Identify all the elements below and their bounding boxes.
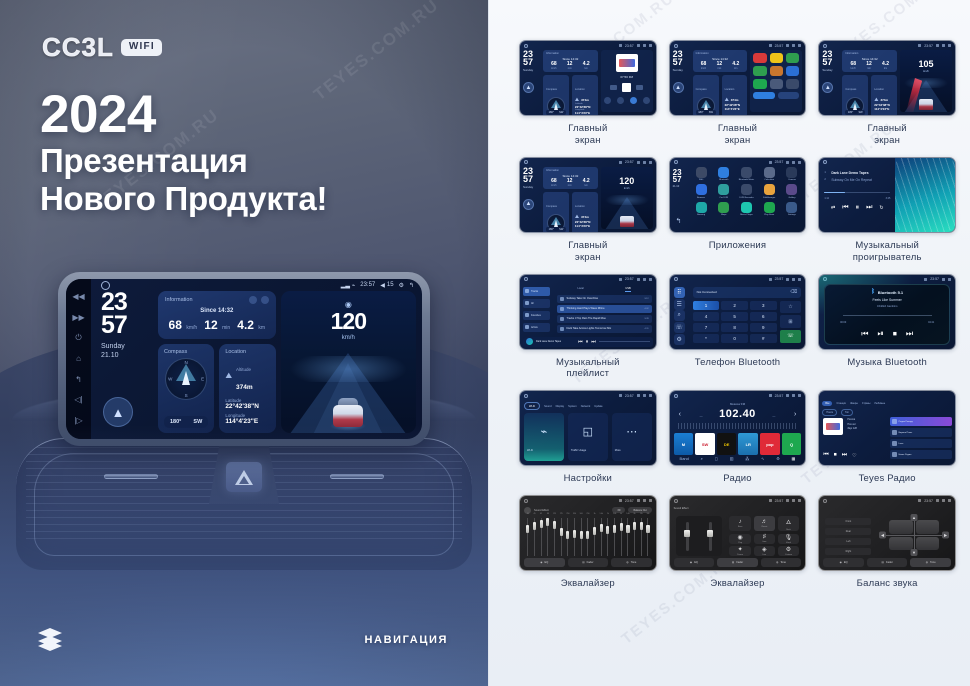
prev-key-icon[interactable]: ◀◀ xyxy=(72,293,84,301)
home-icon xyxy=(524,499,528,503)
eq-band-label: 88 xyxy=(545,513,551,515)
gallery-item[interactable]: 23:57 Front Rear Left Right xyxy=(818,495,956,590)
preset-grid[interactable]: ♪Bass ♬Classic 🜂Rock ◉Pop ♯Jazz 🎙Vocal ✦… xyxy=(729,516,799,556)
screenshot-music-player[interactable]: 23:57 1Dark Lane Demo Tapes 2Subway On M… xyxy=(818,157,956,233)
preset-bass[interactable]: ♪Bass xyxy=(729,516,751,531)
sidebar-item-tracks[interactable]: Tracks xyxy=(523,287,550,296)
drive-view-panel: 120 km/h xyxy=(601,167,653,229)
next-icon[interactable]: ⏭ xyxy=(906,329,913,339)
shuffle-icon[interactable]: ⇄ xyxy=(831,205,835,211)
teyes-tabs[interactable]: Все Станции Жанры Страны Любимые xyxy=(822,401,952,406)
preset-pop[interactable]: ◉Pop xyxy=(729,534,751,544)
volume-down-key-icon[interactable]: ◁| xyxy=(74,396,82,404)
stat-unit: km/h xyxy=(701,67,707,70)
gallery-item[interactable]: 23:57 1Dark Lane Demo Tapes 2Subway On M… xyxy=(818,157,956,264)
dial-key[interactable]: 2 xyxy=(721,301,748,310)
balance-row-rear[interactable]: Rear xyxy=(825,528,871,535)
contacts-icon[interactable]: ☰ xyxy=(674,299,685,310)
repeat-icon[interactable]: ↻ xyxy=(879,205,883,211)
stat-unit: min xyxy=(222,325,230,331)
gallery-caption: Эквалайзер xyxy=(710,578,764,590)
compass-card[interactable]: Compass N E S W xyxy=(158,344,214,433)
app-icon-playstore xyxy=(764,202,775,213)
list-item[interactable]: Европа Плюс xyxy=(890,428,952,437)
stat-item: 4.2km xyxy=(732,62,739,70)
back-key-icon[interactable]: ↰ xyxy=(75,376,82,384)
gallery-caption: Teyes Радио xyxy=(859,473,916,485)
tab-local[interactable]: Local xyxy=(577,287,583,292)
dial-key[interactable]: 0 xyxy=(721,334,748,343)
nav-af[interactable]: ◻ xyxy=(715,456,718,461)
volume-up-key-icon[interactable]: |▷ xyxy=(74,417,82,425)
wifi-icon[interactable]: ▂▃ ⌁ xyxy=(341,282,356,289)
card-label: More xyxy=(615,449,621,452)
gallery-item[interactable]: 23:57 Sound Effect 3D Balance Out 314562… xyxy=(519,495,657,590)
gallery-item[interactable]: Все Станции Жанры Страны Любимые Поиск Т… xyxy=(818,390,956,485)
volume-icon xyxy=(637,499,640,502)
clock-minutes: 57 xyxy=(523,58,540,66)
sidebar-item-all[interactable]: All xyxy=(523,299,550,308)
list-item[interactable]: Love xyxy=(890,439,952,448)
footer-tone[interactable]: ◍ Tone xyxy=(910,558,951,567)
fader-right[interactable] xyxy=(709,522,712,551)
information-card[interactable]: Information Since 14:32 xyxy=(158,291,276,339)
preset-label: Jazz xyxy=(762,541,766,543)
mini-status-bar: 23:57 xyxy=(670,158,806,167)
gallery-item[interactable]: 23:57 23 57 Sunday ▲ xyxy=(519,40,657,147)
eq-band-slider[interactable] xyxy=(638,518,644,556)
navigation-arrow-button[interactable]: ▲ xyxy=(103,397,133,427)
eq-band-slider[interactable] xyxy=(572,518,578,556)
nav-ta[interactable]: ⁂ xyxy=(745,456,749,461)
table-row[interactable]: Dark Take Across Lights Tomorrow Mix4:11 xyxy=(557,325,652,333)
gallery-item[interactable]: 23:57 23 57 Sunday ▲ xyxy=(519,157,657,264)
compass-card: Compass 180°SW xyxy=(543,192,569,233)
back-arrow-icon xyxy=(649,44,652,47)
table-row[interactable]: Tracks 3 Top Rain The Rapid Rise3:28 xyxy=(557,315,652,323)
nav-search[interactable]: ⌕ xyxy=(701,456,703,461)
home-key-icon[interactable]: ⌂ xyxy=(76,355,81,363)
subtab-search[interactable]: Поиск xyxy=(822,409,837,416)
stat-unit: km/h xyxy=(186,325,197,331)
screenshot-equalizer-bands[interactable]: 23:57 Sound Effect 3D Balance Out 314562… xyxy=(519,495,657,571)
track-number: 1 xyxy=(824,171,828,174)
footer-eq[interactable]: ◉ EQ xyxy=(823,558,864,567)
balance-row-left[interactable]: Left xyxy=(825,538,871,545)
prev-icon[interactable]: ⏮ xyxy=(578,339,583,345)
brand-logo: CC3L WIFI xyxy=(42,32,162,63)
preset-custom[interactable]: ⚙Custom xyxy=(778,546,800,556)
tab-update[interactable]: Update xyxy=(594,405,602,408)
gallery-item[interactable]: 23:57 Moscow FM 102.40 ‹ › — — M SW xyxy=(669,390,807,485)
gear-icon[interactable]: ⚙ xyxy=(399,282,404,289)
compass-heading: 180° xyxy=(549,111,554,114)
information-card: Information Since 14:32 68km/h 12min 4.2… xyxy=(842,50,897,72)
tab-wifi[interactable]: Wi-Fi xyxy=(524,402,540,410)
dial-key[interactable]: 7 xyxy=(693,323,720,332)
shortcut-icon xyxy=(643,97,650,104)
preset-jazz[interactable]: ♯Jazz xyxy=(754,534,776,544)
gallery-item[interactable]: 23:57 ⠿ ☰ ⌕ ☏ ⚙ Not Connected xyxy=(669,274,807,381)
preset-live[interactable]: ◈Live xyxy=(754,546,776,556)
eq-band-label: 45 xyxy=(532,513,538,515)
eq-band-slider[interactable] xyxy=(538,518,544,556)
gallery-caption: Музыка Bluetooth xyxy=(847,357,927,369)
eq-band-slider[interactable] xyxy=(618,518,624,556)
expand-icon[interactable] xyxy=(261,296,269,304)
gallery-item[interactable]: 23:57 ᛒBluetooth 5.1 Feels Like Summer C… xyxy=(818,274,956,381)
mini-player-bar[interactable]: Dark Lane Demo Tapes ⏮ ⏸ ⏭ xyxy=(523,337,653,347)
sidebar-item-artists[interactable]: Artists xyxy=(523,323,550,332)
screenshot-home-road[interactable]: 23:57 23 57 Sunday ▲ xyxy=(519,157,657,233)
dial-key[interactable]: 6 xyxy=(750,312,777,321)
favorite-icon[interactable]: ♡ xyxy=(852,453,856,459)
eq-band-slider[interactable] xyxy=(552,518,558,556)
app-icon-settings xyxy=(786,202,797,213)
preset-button[interactable]: Q xyxy=(782,433,802,455)
nav-band[interactable]: Band xyxy=(680,456,689,461)
preset-rock[interactable]: 🜂Rock xyxy=(778,516,800,531)
tab-genres[interactable]: Жанры xyxy=(850,402,858,405)
tune-up-icon[interactable]: › xyxy=(794,411,796,418)
prev-icon[interactable]: ⏮ xyxy=(823,452,828,459)
dial-key[interactable]: * xyxy=(693,334,720,343)
preset-button[interactable]: M xyxy=(674,433,694,455)
progress-bar[interactable] xyxy=(843,315,932,316)
settings-card-wifi[interactable]: ⌁ Wi-Fi xyxy=(524,413,564,461)
gear-icon xyxy=(942,499,945,502)
balance-rows[interactable]: Front Rear Left Right xyxy=(825,516,871,556)
back-arrow-icon xyxy=(798,394,801,397)
location-title: Location xyxy=(575,205,585,208)
screenshot-radio[interactable]: 23:57 Moscow FM 102.40 ‹ › — — M SW xyxy=(669,390,807,466)
volume-icon xyxy=(637,161,640,164)
balance-right-button[interactable]: ▶ xyxy=(942,532,949,539)
nav-st[interactable]: ∿ xyxy=(761,456,764,461)
eq-band-slider[interactable] xyxy=(592,518,598,556)
track-artist: Subway On Me On Repeat xyxy=(831,178,872,182)
eq-band-slider[interactable] xyxy=(578,518,584,556)
app-item: Play Store xyxy=(760,202,779,217)
eq-band-slider[interactable] xyxy=(525,518,531,556)
tab-usb[interactable]: USB xyxy=(625,287,630,292)
clock-minutes: 57 xyxy=(101,314,153,337)
eq-footer-tabs[interactable]: ◉ EQ ▤ Fader ◍ Tone xyxy=(823,558,951,567)
pause-icon[interactable]: ⏸ xyxy=(586,339,589,345)
app-icon-musicplayer xyxy=(741,202,752,213)
elapsed-time: 00:00 xyxy=(840,321,846,324)
radio-frequency: 102.40 xyxy=(670,408,806,420)
status-time: 23:57 xyxy=(625,394,634,398)
call-history-icon[interactable]: ☏ xyxy=(674,322,685,333)
dialpad-keys[interactable]: 1 2 3 4 5 6 7 8 9 * 0 # xyxy=(693,301,777,343)
phone-sidebar[interactable]: ⠿ ☰ ⌕ ☏ ⚙ xyxy=(670,284,689,349)
hazard-button[interactable] xyxy=(226,462,262,492)
stat-item: 4.2km xyxy=(882,62,889,70)
bluetooth-icon: ᛒ xyxy=(871,289,875,295)
footer-fader[interactable]: ▤ Fader xyxy=(568,558,609,567)
information-title: Information xyxy=(165,297,193,303)
tab-all[interactable]: Все xyxy=(822,401,832,406)
balance-down-button[interactable]: ▼ xyxy=(911,549,918,556)
app-icon-gallery xyxy=(786,184,797,195)
eq-band-slider[interactable] xyxy=(625,518,631,556)
clock-widget: 23 57 Sunday ▲ xyxy=(523,167,540,229)
track-duration: 3:28 xyxy=(644,318,648,320)
wifi-icon xyxy=(769,394,772,397)
table-row[interactable]: Subway Take On Overdrive3:12 xyxy=(557,295,652,303)
next-icon[interactable]: ⏭ xyxy=(866,204,872,212)
stat-unit: km xyxy=(882,67,889,70)
list-item[interactable]: Наше Радио xyxy=(890,450,952,459)
navigation-arrow-button: ▲ xyxy=(822,82,833,93)
footer-tone[interactable]: ◍ Tone xyxy=(611,558,652,567)
eq-band-slider[interactable] xyxy=(632,518,638,556)
next-icon[interactable]: ⏭ xyxy=(842,452,847,459)
gallery-item[interactable]: 23:57 Tracks All Favorites Artists Local xyxy=(519,274,657,381)
settings-tabs[interactable]: Wi-Fi Sound Display System Network Updat… xyxy=(524,402,652,410)
speed-unit: km/h xyxy=(624,187,630,190)
now-playing-panel: 1Dark Lane Demo Tapes 2Subway On Me On R… xyxy=(819,167,895,232)
radio-toolbar[interactable]: Band ⌕ ◻ ▥ ⁂ ∿ ⚙ ▦ xyxy=(674,454,802,462)
eq-band-sliders[interactable] xyxy=(525,518,651,556)
tune-down-icon[interactable]: ‹ xyxy=(679,411,681,418)
preset-dance[interactable]: ✦Dance xyxy=(729,546,751,556)
mini-status-bar: 23:57 xyxy=(520,41,656,50)
stop-icon[interactable]: ⏹ xyxy=(834,452,837,459)
footer-eq[interactable]: ◉ EQ xyxy=(674,558,715,567)
subtab-top[interactable]: Топ xyxy=(841,409,853,416)
seek-up-icon[interactable]: — xyxy=(772,414,775,418)
stat-unit: min xyxy=(717,67,723,70)
app-item: WiFi xyxy=(692,167,711,182)
app-item: Car DVR xyxy=(714,184,733,199)
screenshot-teyes-radio[interactable]: Все Станции Жанры Страны Любимые Поиск Т… xyxy=(818,390,956,466)
speed-unit: km/h xyxy=(923,70,929,73)
preset-vocal[interactable]: 🎙Vocal xyxy=(778,534,800,544)
media-track: 07:50 FM xyxy=(601,75,653,79)
screenshot-equalizer-presets[interactable]: 23:57 Sound Effect ♪Bass ♬Classic xyxy=(669,495,807,571)
balance-row-front[interactable]: Front xyxy=(825,518,871,525)
stat-unit: km xyxy=(583,67,590,70)
footer-fader[interactable]: ▤ Fader xyxy=(867,558,908,567)
footer-eq[interactable]: ◉ EQ xyxy=(524,558,565,567)
stat-unit: km xyxy=(583,184,590,187)
screenshot-home-apps[interactable]: 23:57 23 57 Sunday ▲ xyxy=(669,40,807,116)
back-arrow-icon[interactable]: ↰ xyxy=(409,282,414,289)
progress-bar[interactable] xyxy=(824,192,890,194)
footer-fader[interactable]: ▤ Fader xyxy=(717,558,758,567)
preset-button[interactable]: SW xyxy=(695,433,715,455)
screenshot-sound-balance[interactable]: 23:57 Front Rear Left Right xyxy=(818,495,956,571)
eq-band-slider[interactable] xyxy=(565,518,571,556)
settings-card-more[interactable]: ⋯ More xyxy=(612,413,652,461)
contacts-icon[interactable]: ⊞ xyxy=(780,315,802,328)
altitude-value: 374m xyxy=(880,98,888,102)
clock-widget[interactable]: 23 57 Sunday 21.10 ▲ xyxy=(97,291,153,433)
preset-label: Custom xyxy=(785,554,792,556)
gallery-item[interactable]: 23:57 Wi-Fi Sound Display System Network… xyxy=(519,390,657,485)
stat-item: 4.2km xyxy=(583,179,590,187)
dial-key[interactable]: 9 xyxy=(750,323,777,332)
app-label: Browser xyxy=(697,197,705,199)
call-icon[interactable]: ☏ xyxy=(780,330,802,343)
stat-unit: km xyxy=(732,67,739,70)
preset-button[interactable]: pop xyxy=(760,433,780,455)
balance-row-right[interactable]: Right xyxy=(825,548,871,555)
screenshot-music-playlist[interactable]: 23:57 Tracks All Favorites Artists Local xyxy=(519,274,657,350)
dial-key[interactable]: # xyxy=(750,334,777,343)
search-icon[interactable]: ⌕ xyxy=(674,310,685,321)
backspace-icon[interactable]: ⌫ xyxy=(790,289,797,295)
frequency-scale[interactable] xyxy=(678,423,798,429)
navigation-arrow-button: ▲ xyxy=(523,199,534,210)
screenshot-bt-phone[interactable]: 23:57 ⠿ ☰ ⌕ ☏ ⚙ Not Connected xyxy=(669,274,807,350)
seek-down-icon[interactable]: — xyxy=(700,414,703,418)
app-item: Music Player xyxy=(737,202,756,217)
gallery-item[interactable]: 23:57 Sound Effect ♪Bass ♬Classic xyxy=(669,495,807,590)
number-field[interactable]: Not Connected ⌫ xyxy=(693,287,802,298)
shortcut-icon xyxy=(617,97,624,104)
preset-button[interactable]: DE xyxy=(717,433,737,455)
radio-presets[interactable]: M SW DE LR pop Q xyxy=(674,433,802,455)
eq-band-slider[interactable] xyxy=(645,518,651,556)
eq-band-label: 350 xyxy=(572,513,578,515)
eq-footer-tabs[interactable]: ◉ EQ ▤ Fader ◍ Tone xyxy=(524,558,652,567)
dial-key[interactable]: 8 xyxy=(721,323,748,332)
eq-band-slider[interactable] xyxy=(612,518,618,556)
compass-card: Compass 180°SW xyxy=(842,75,868,116)
screenshot-bt-music[interactable]: 23:57 ᛒBluetooth 5.1 Feels Like Summer C… xyxy=(818,274,956,350)
dial-key[interactable]: 4 xyxy=(693,312,720,321)
dial-key[interactable]: 3 xyxy=(750,301,777,310)
head-unit-screen[interactable]: ◀◀ ▶▶ ⏻ ⌂ ↰ ◁| |▷ ▂▃ ⌁ 23:57 xyxy=(66,279,422,439)
wifi-icon xyxy=(619,161,622,164)
eq-band-slider[interactable] xyxy=(598,518,604,556)
headline-line2: Нового Продукта! xyxy=(40,180,327,218)
hardkey-rail[interactable]: ◀◀ ▶▶ ⏻ ⌂ ↰ ◁| |▷ xyxy=(66,279,91,439)
preset-button[interactable]: LR xyxy=(738,433,758,455)
footer-label: EQ xyxy=(694,561,698,564)
dial-key[interactable]: 5 xyxy=(721,312,748,321)
gallery-item[interactable]: 23:57 23 57 Sunday ▲ xyxy=(669,40,807,147)
settings-icon[interactable]: ⚙ xyxy=(674,334,685,345)
tab-network[interactable]: Network xyxy=(581,405,591,408)
gallery-item[interactable]: 23:57 23 57 21.10 ↰ WiFi Bluetooth xyxy=(669,157,807,264)
elapsed-time: 1:12 xyxy=(824,197,829,200)
widget-stack: Information Since 14:32 xyxy=(158,291,276,433)
app-label: Maps xyxy=(721,214,726,216)
longitude-value: 114°4'23"E xyxy=(575,224,595,228)
station-list[interactable]: Радио Рекорд Европа Плюс Love Наше Радио xyxy=(890,417,952,462)
seat-grid xyxy=(889,520,939,550)
eq-band-slider[interactable] xyxy=(545,518,551,556)
screenshot-settings[interactable]: 23:57 Wi-Fi Sound Display System Network… xyxy=(519,390,657,466)
app-icon-cardvr xyxy=(718,184,729,195)
dialpad-icon[interactable]: ⠿ xyxy=(674,287,685,298)
preset-classic[interactable]: ♬Classic xyxy=(754,516,776,531)
screenshot-home-media[interactable]: 23:57 23 57 Sunday ▲ xyxy=(519,40,657,116)
tab-stations[interactable]: Станции xyxy=(836,402,845,405)
compass-mark-n: N xyxy=(185,360,188,365)
teyes-subtabs[interactable]: Поиск Топ xyxy=(822,409,952,416)
pause-icon[interactable]: ⏸ xyxy=(856,204,860,212)
progress-bar[interactable] xyxy=(599,341,650,342)
app-label: Calculator xyxy=(764,179,774,181)
refresh-icon[interactable] xyxy=(249,296,257,304)
next-key-icon[interactable]: ▶▶ xyxy=(72,314,84,322)
nav-list[interactable]: ▦ xyxy=(792,456,796,461)
back-arrow-icon xyxy=(798,44,801,47)
favorite-icon[interactable]: ☆ xyxy=(780,301,802,314)
eq-band-label: 250 xyxy=(565,513,571,515)
home-screen: 23 57 Sunday 21.10 ▲ xyxy=(91,291,422,439)
stat-item: 12min xyxy=(567,62,573,70)
sidebar-item-favorites[interactable]: Favorites xyxy=(523,311,550,320)
screenshot-home-road-red[interactable]: 23:57 23 57 Sunday ▲ xyxy=(818,40,956,116)
eq-band-label: 175 xyxy=(558,513,564,515)
balance-left-button[interactable]: ◀ xyxy=(879,532,886,539)
compass-needle-icon xyxy=(182,371,190,385)
location-card[interactable]: Location ⛰ Altitude 374m xyxy=(219,344,275,433)
nav-rds[interactable]: ▥ xyxy=(730,456,734,461)
fader-pair[interactable] xyxy=(676,516,722,556)
eq-band-slider[interactable] xyxy=(585,518,591,556)
wifi-icon xyxy=(769,44,772,47)
stat-unit: min xyxy=(567,67,573,70)
tab-countries[interactable]: Страны xyxy=(862,402,871,405)
balance-pad[interactable]: ▲ ▼ ◀ ▶ xyxy=(879,514,949,556)
tab-system[interactable]: System xyxy=(568,405,577,408)
eq-band-slider[interactable] xyxy=(558,518,564,556)
prev-icon[interactable]: ⏮ xyxy=(861,329,868,339)
footer-tone[interactable]: ◍ Tone xyxy=(761,558,802,567)
seat-front-left xyxy=(889,520,913,534)
tab-display[interactable]: Display xyxy=(556,405,565,408)
back-arrow-icon xyxy=(948,44,951,47)
list-item[interactable]: Радио Рекорд xyxy=(890,417,952,426)
clock-minutes: 57 xyxy=(822,58,839,66)
prev-icon[interactable]: ⏮ xyxy=(842,204,848,212)
stat-item: 68 km/h xyxy=(169,316,198,334)
table-row[interactable]: Thinking Hard Plays Wave Rhine4:02 xyxy=(557,305,652,313)
eq-footer-tabs[interactable]: ◉ EQ ▤ Fader ◍ Tone xyxy=(674,558,802,567)
tab-favorites[interactable]: Любимые xyxy=(874,402,885,405)
stop-icon[interactable]: ⏹ xyxy=(893,329,897,339)
power-key-icon[interactable]: ⏻ xyxy=(75,334,81,342)
dial-key[interactable]: 1 xyxy=(693,301,720,310)
layers-icon xyxy=(38,628,62,648)
eq-band-slider[interactable] xyxy=(605,518,611,556)
next-icon[interactable]: ⏭ xyxy=(591,339,596,345)
nav-eq[interactable]: ⚙ xyxy=(776,456,780,461)
settings-card-traffic[interactable]: ◱ Traffic Usage xyxy=(568,413,608,461)
drive-view-panel[interactable]: ◉ 120 km/h xyxy=(281,291,416,433)
balance-up-button[interactable]: ▲ xyxy=(911,514,918,521)
screenshot-app-drawer[interactable]: 23:57 23 57 21.10 ↰ WiFi Bluetooth xyxy=(669,157,807,233)
back-arrow-icon xyxy=(649,161,652,164)
station-name: Love xyxy=(899,443,950,445)
seat-front-right xyxy=(916,520,940,534)
stat-value: 68 xyxy=(169,318,182,332)
gallery-item[interactable]: 23:57 23 57 Sunday ▲ xyxy=(818,40,956,147)
play-pause-icon[interactable]: ⏯ xyxy=(877,329,883,339)
tab-sound[interactable]: Sound xyxy=(544,405,552,408)
car-dashboard-illustration: ◀◀ ▶▶ ⏻ ⌂ ↰ ◁| |▷ ▂▃ ⌁ 23:57 xyxy=(0,266,488,686)
stat-item: 4.2km xyxy=(583,62,590,70)
fader-left[interactable] xyxy=(686,522,689,551)
eq-band-slider[interactable] xyxy=(532,518,538,556)
